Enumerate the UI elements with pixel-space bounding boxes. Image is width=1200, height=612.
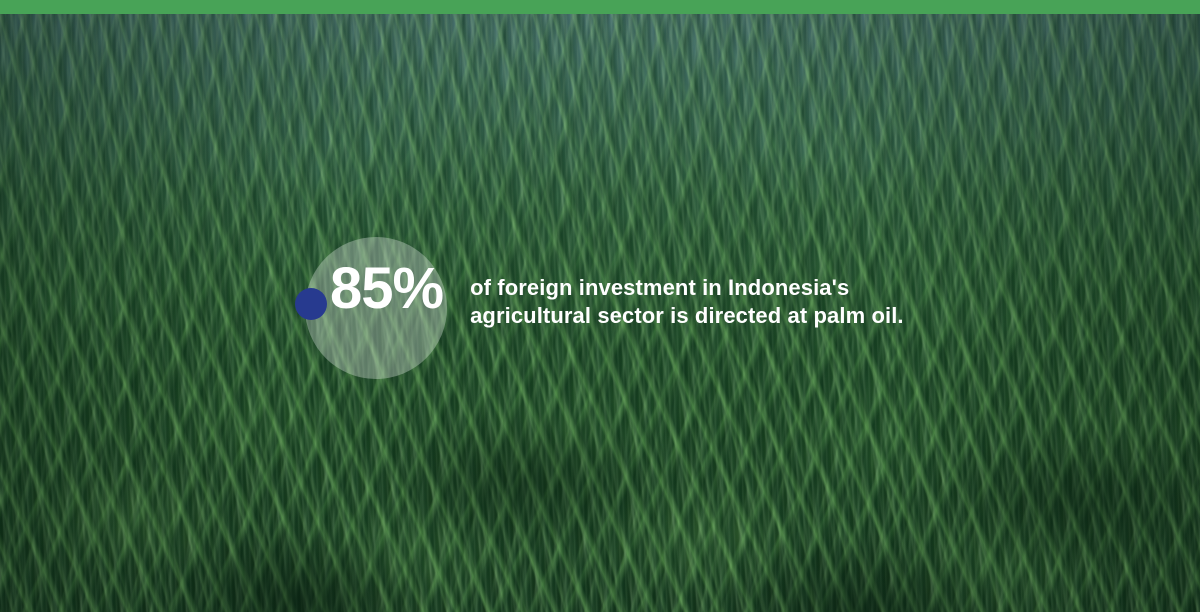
stat-description-line-1: of foreign investment in Indonesia's [470,274,904,302]
top-accent-bar [0,0,1200,14]
blue-dot-marker [295,288,327,320]
stat-value: 85% [330,258,443,320]
statistic-block: 85% of foreign investment in Indonesia's… [330,258,904,330]
statistic-banner: 85% of foreign investment in Indonesia's… [0,0,1200,612]
stat-description-line-2: agricultural sector is directed at palm … [470,302,904,330]
stat-description: of foreign investment in Indonesia's agr… [470,258,904,330]
